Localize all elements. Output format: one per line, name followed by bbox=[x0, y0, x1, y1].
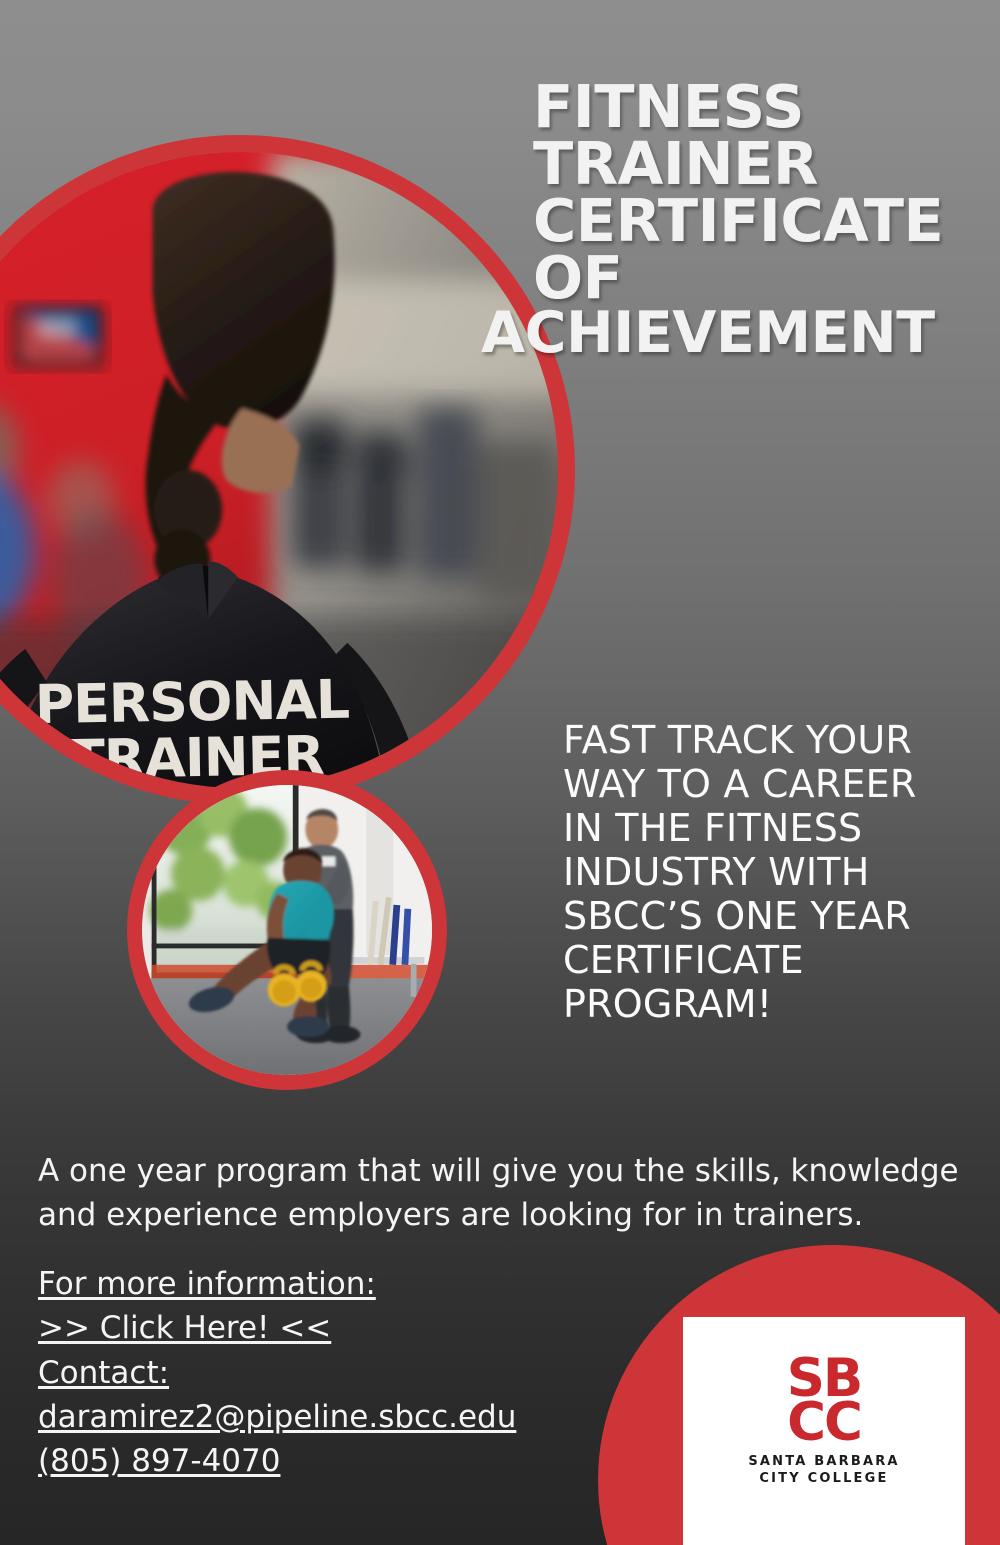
headline-line-5: ACHIEVEMENT bbox=[481, 306, 1000, 361]
headline-line-2: TRAINER bbox=[533, 135, 1000, 192]
page-title: FITNESS TRAINER CERTIFICATE OF ACHIEVEME… bbox=[533, 78, 1000, 362]
subheadline-line-5: SBCC’S ONE YEAR bbox=[563, 894, 963, 938]
more-information-label: For more information: bbox=[38, 1262, 598, 1306]
poster-root: PERSONAL TRAINER bbox=[0, 0, 1000, 1545]
contact-section: For more information: >> Click Here! << … bbox=[38, 1262, 598, 1484]
sbcc-monogram: SB CC bbox=[787, 1357, 862, 1445]
main-photo-circle: PERSONAL TRAINER bbox=[0, 135, 575, 805]
subheadline: FAST TRACK YOUR WAY TO A CAREER IN THE F… bbox=[563, 718, 963, 1027]
description-line-1: A one year program that will give you th… bbox=[38, 1149, 953, 1193]
subheadline-line-4: INDUSTRY WITH bbox=[563, 850, 963, 894]
sbcc-logo: SB CC SANTA BARBARA CITY COLLEGE bbox=[683, 1317, 965, 1545]
subheadline-line-3: IN THE FITNESS bbox=[563, 806, 963, 850]
click-here-link[interactable]: >> Click Here! << bbox=[38, 1306, 598, 1350]
subheadline-line-2: WAY TO A CAREER bbox=[563, 762, 963, 806]
secondary-photo-circle bbox=[127, 770, 447, 1090]
headline-line-3: CERTIFICATE bbox=[533, 192, 1000, 249]
kettlebell-coaching-photo bbox=[142, 785, 432, 1075]
subheadline-line-1: FAST TRACK YOUR bbox=[563, 718, 963, 762]
subheadline-line-7: PROGRAM! bbox=[563, 982, 963, 1026]
personal-trainer-photo: PERSONAL TRAINER bbox=[0, 152, 558, 788]
sbcc-wordmark: SANTA BARBARA CITY COLLEGE bbox=[748, 1453, 899, 1487]
subheadline-line-6: CERTIFICATE bbox=[563, 938, 963, 982]
sbcc-wordmark-line-1: SANTA BARBARA bbox=[748, 1453, 899, 1470]
sbcc-wordmark-line-2: CITY COLLEGE bbox=[748, 1470, 899, 1487]
headline-line-4: OF bbox=[533, 249, 1000, 306]
headline-line-1: FITNESS bbox=[533, 78, 1000, 135]
contact-email-link[interactable]: daramirez2@pipeline.sbcc.edu bbox=[38, 1395, 598, 1439]
sbcc-monogram-line-2: CC bbox=[787, 1401, 862, 1445]
description-line-2: and experience employers are looking for… bbox=[38, 1193, 953, 1237]
contact-phone-link[interactable]: (805) 897-4070 bbox=[38, 1439, 598, 1483]
program-description: A one year program that will give you th… bbox=[38, 1149, 953, 1237]
contact-label: Contact: bbox=[38, 1351, 598, 1395]
